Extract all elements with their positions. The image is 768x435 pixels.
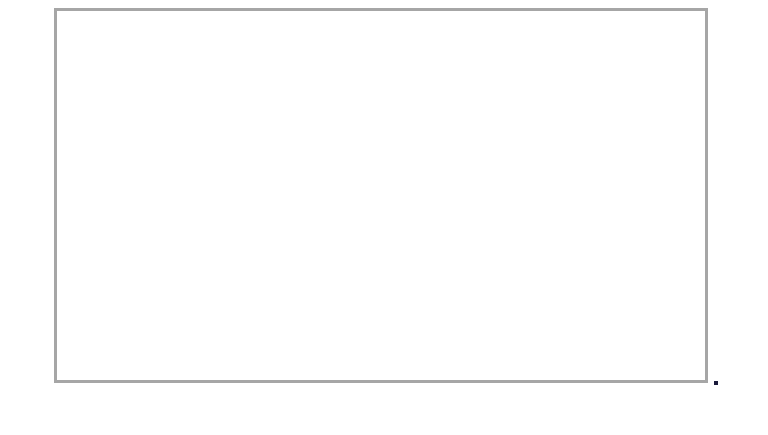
- y-axis-tick-labels: [60, 62, 136, 280]
- chart-title: [0, 20, 768, 40]
- trailing-period-mark: [714, 381, 718, 385]
- plot-svg: [144, 62, 454, 280]
- x-axis-tick-labels: [144, 286, 454, 314]
- plot-area: [144, 62, 454, 280]
- y-axis-title: [32, 52, 58, 272]
